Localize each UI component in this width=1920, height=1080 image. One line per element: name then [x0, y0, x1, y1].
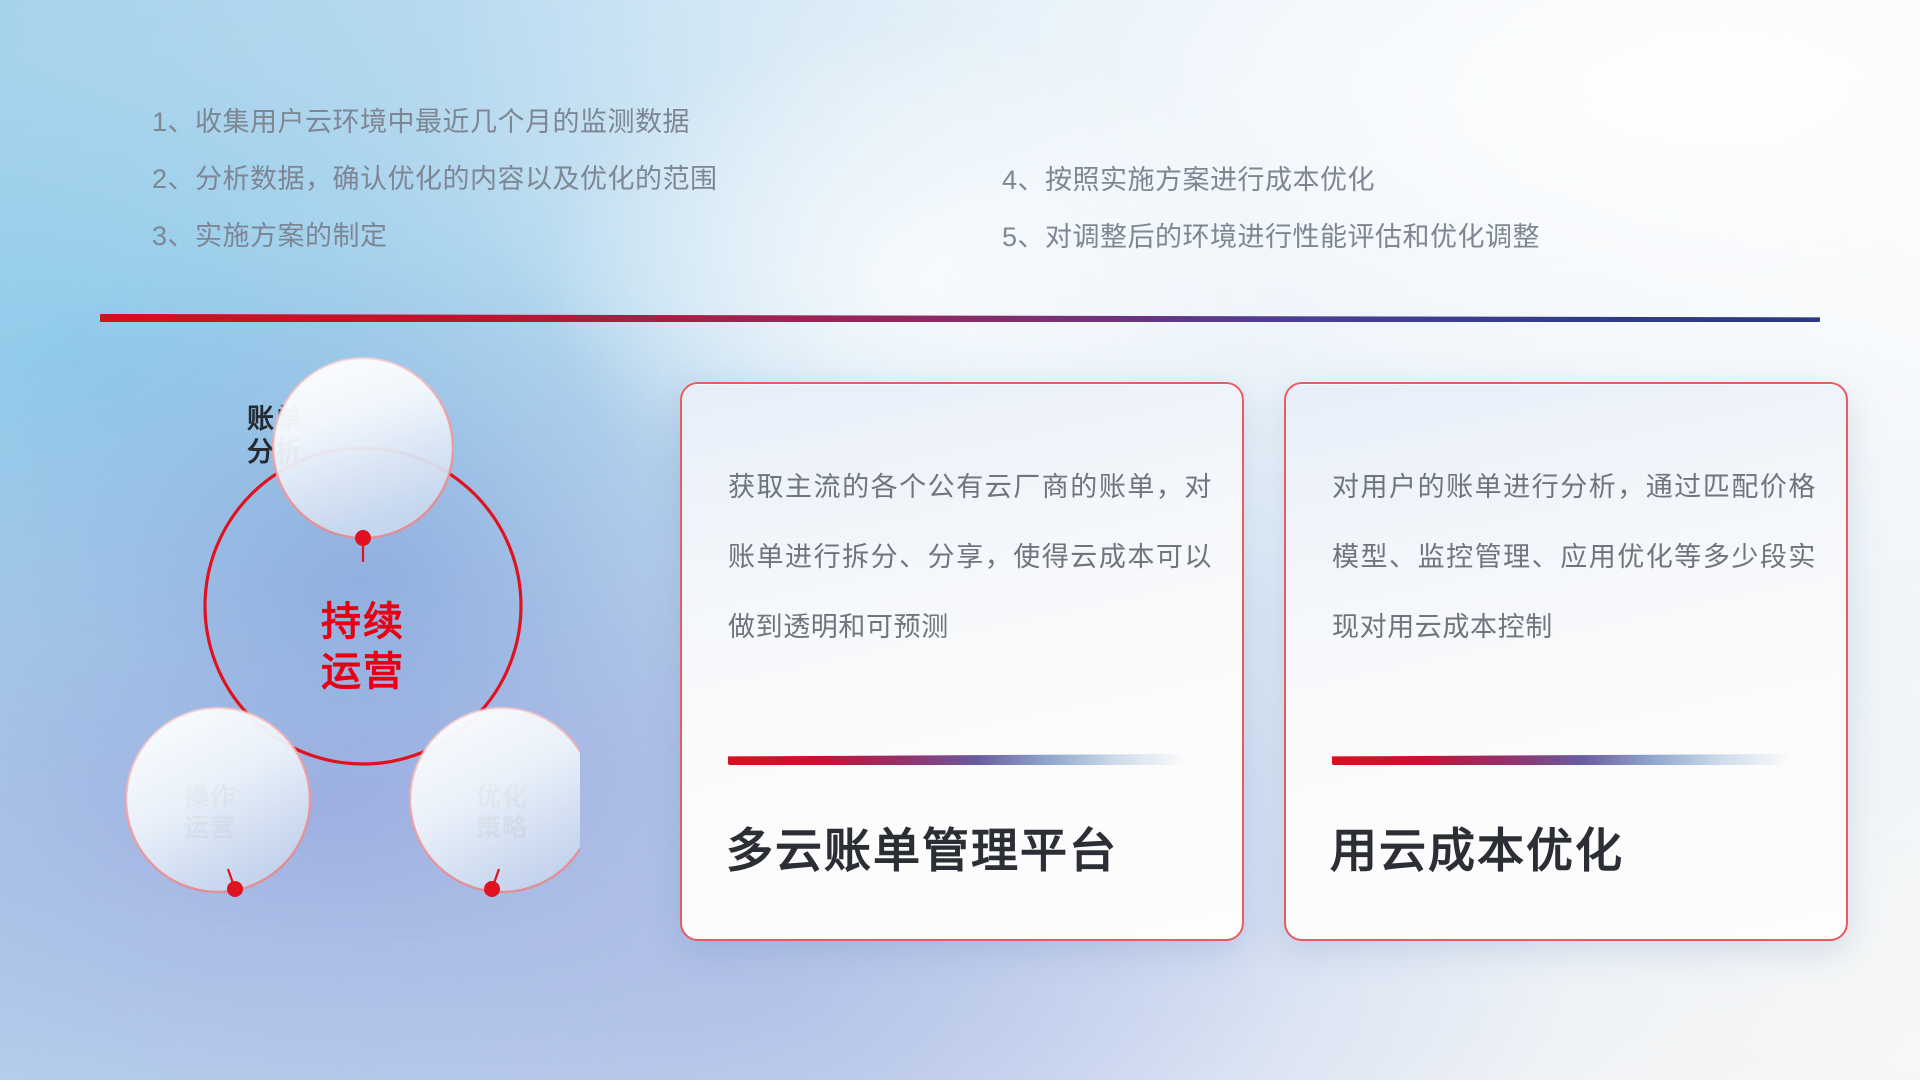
card-cloud-cost-optimization[interactable]: 对用户的账单进行分析，通过匹配价格模型、监控管理、应用优化等多少段实现对用云成本…	[1284, 382, 1848, 941]
card-body-text: 对用户的账单进行分析，通过匹配价格模型、监控管理、应用优化等多少段实现对用云成本…	[1332, 452, 1816, 662]
card-title: 用云成本优化	[1330, 812, 1822, 881]
venn-bubble-bottom-left	[126, 708, 310, 892]
card-multi-cloud-billing[interactable]: 获取主流的各个公有云厂商的账单，对账单进行拆分、分享，使得云成本可以做到透明和可…	[680, 382, 1244, 941]
bullet-list-right: 4、按照实施方案进行成本优化 5、对调整后的环境进行性能评估和优化调整	[1002, 152, 1540, 266]
bullet-item-2: 2、分析数据，确认优化的内容以及优化的范围	[152, 151, 718, 208]
bullet-item-4: 4、按照实施方案进行成本优化	[1002, 152, 1540, 209]
venn-bubble-bottom-right	[410, 708, 580, 892]
bullet-item-5: 5、对调整后的环境进行性能评估和优化调整	[1002, 209, 1540, 266]
slide-canvas: 1、收集用户云环境中最近几个月的监测数据 2、分析数据，确认优化的内容以及优化的…	[0, 0, 1920, 1080]
card-body-text: 获取主流的各个公有云厂商的账单，对账单进行拆分、分享，使得云成本可以做到透明和可…	[728, 452, 1212, 662]
venn-center-label-continuous-operation: 持续 运营	[268, 597, 458, 698]
venn-center-line-2: 运营	[268, 647, 458, 697]
card-divider-rule	[1332, 754, 1790, 765]
card-divider-rule	[728, 754, 1186, 765]
venn-center-line-1: 持续	[268, 597, 458, 647]
bullet-list-left: 1、收集用户云环境中最近几个月的监测数据 2、分析数据，确认优化的内容以及优化的…	[152, 94, 718, 265]
bullet-item-1: 1、收集用户云环境中最近几个月的监测数据	[152, 94, 718, 151]
bullet-item-3: 3、实施方案的制定	[152, 208, 718, 265]
header-divider-rule	[100, 314, 1820, 322]
card-title: 多云账单管理平台	[726, 812, 1218, 881]
venn-bubble-top	[273, 358, 453, 538]
